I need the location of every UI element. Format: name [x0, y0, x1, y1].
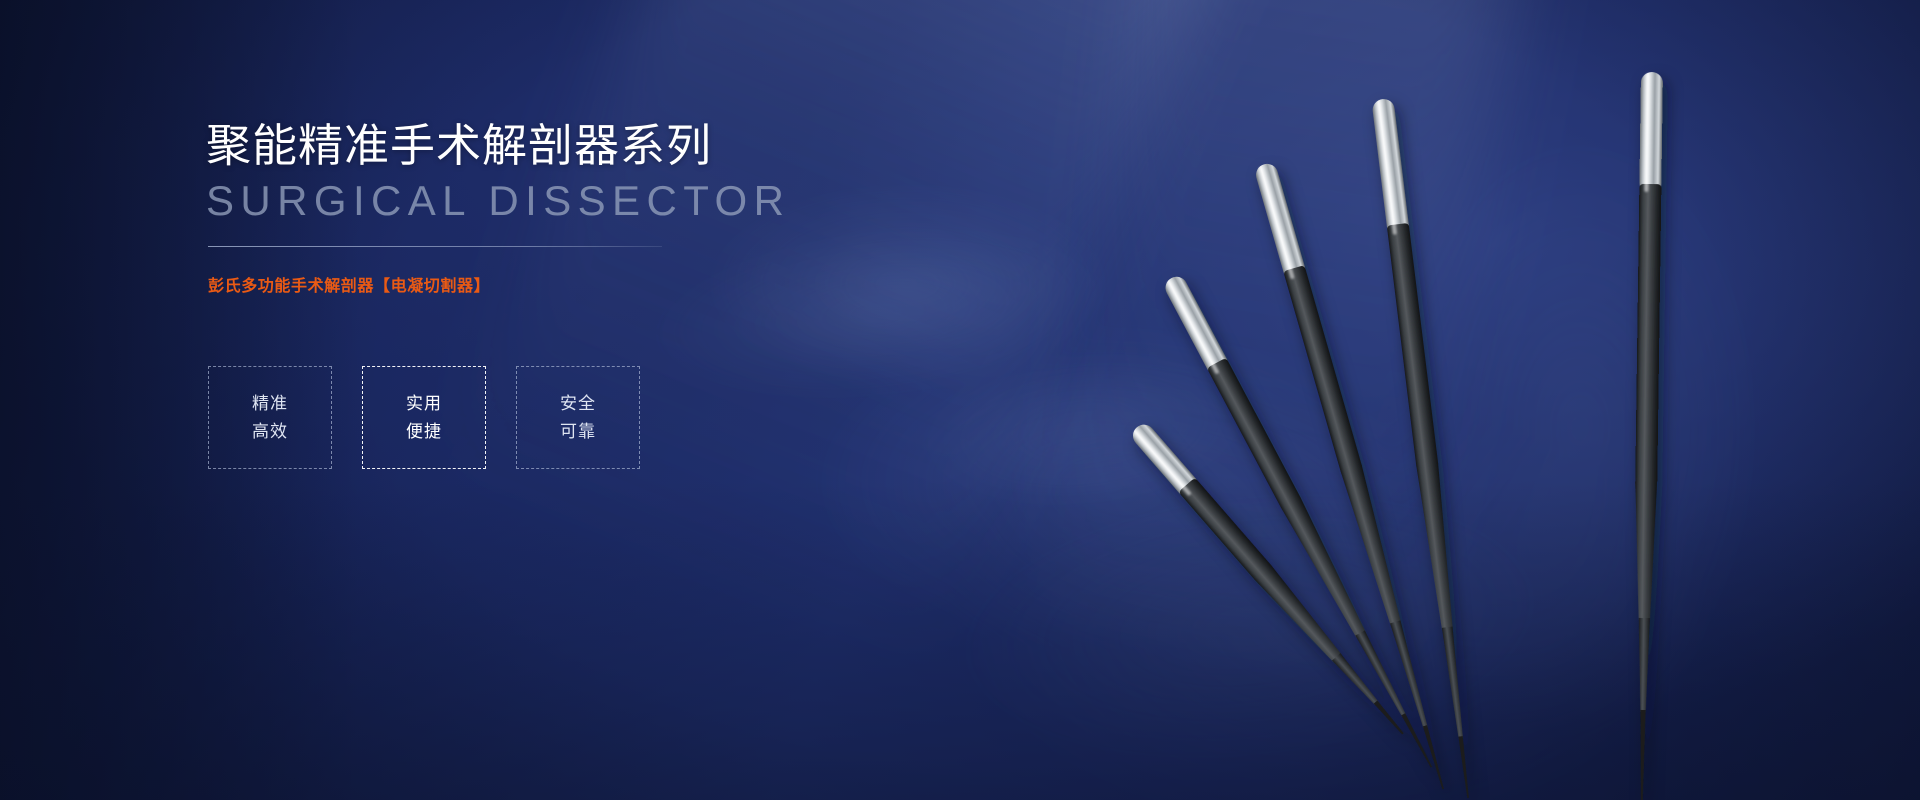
feature-box-2-line-1: 实用 [406, 395, 442, 412]
feature-box-1: 精准 高效 [208, 366, 332, 469]
feature-box-group: 精准 高效 实用 便捷 安全 可靠 [208, 366, 640, 469]
feature-box-1-line-1: 精准 [252, 395, 288, 412]
hero-banner: 聚能精准手术解剖器系列 SURGICAL DISSECTOR 彭氏多功能手术解剖… [0, 0, 1920, 800]
feature-box-1-line-2: 高效 [252, 423, 288, 440]
page-title: 聚能精准手术解剖器系列 [206, 119, 712, 172]
feature-box-3-line-1: 安全 [560, 395, 596, 412]
banner-text-content: 聚能精准手术解剖器系列 SURGICAL DISSECTOR 彭氏多功能手术解剖… [206, 0, 966, 800]
feature-box-3-line-2: 可靠 [560, 423, 596, 440]
title-divider [208, 246, 662, 247]
page-subtitle-english: SURGICAL DISSECTOR [206, 176, 790, 226]
product-name-label: 彭氏多功能手术解剖器【电凝切割器】 [208, 275, 490, 299]
feature-box-2: 实用 便捷 [362, 366, 486, 469]
feature-box-2-line-2: 便捷 [406, 423, 442, 440]
feature-box-3: 安全 可靠 [516, 366, 640, 469]
